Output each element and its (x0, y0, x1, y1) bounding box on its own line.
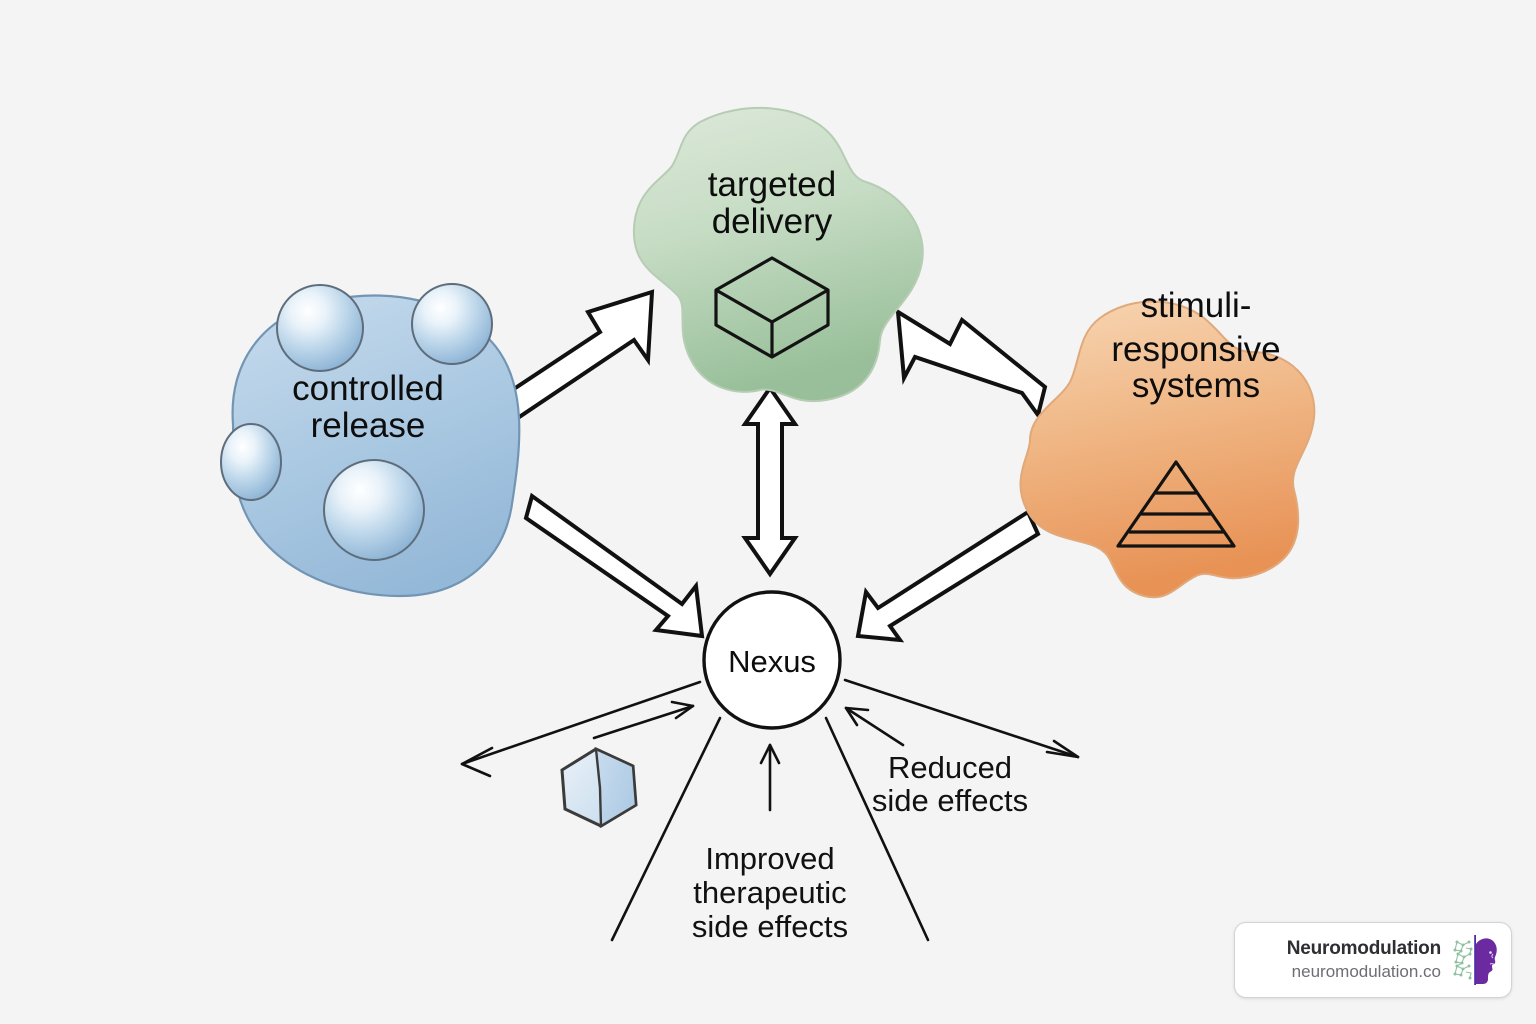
badge-title: Neuromodulation (1287, 937, 1441, 961)
node-label-targeted-delivery-line2: delivery (712, 202, 833, 241)
node-label-stimuli-line1: stimuli- (1141, 286, 1252, 325)
node-label-stimuli-line3: systems (1132, 366, 1260, 405)
outcome-reduced-line1: Reduced (888, 750, 1012, 785)
hub-label: Nexus (728, 644, 816, 679)
node-label-controlled-release-line1: controlled (292, 369, 444, 408)
outcome-improved-therapeutic: Improved therapeutic side effects (692, 841, 848, 944)
outcome-reduced-line2: side effects (872, 783, 1028, 818)
brand-badge[interactable]: Neuromodulation neuromodulation.co (1234, 922, 1512, 998)
outcome-improved-line2: therapeutic (693, 875, 846, 910)
outcome-reduced-side-effects: Reduced side effects (872, 750, 1028, 818)
diagram-canvas: controlled release targeted delivery sti… (0, 0, 1536, 1024)
connector-outcome-improved-arrow (761, 745, 779, 810)
node-controlled-release[interactable]: controlled release (221, 284, 519, 596)
node-label-controlled-release-line2: release (311, 406, 426, 445)
outcome-improved-line3: side effects (692, 909, 848, 944)
node-label-targeted-delivery-line1: targeted (708, 165, 836, 204)
connector-controlled-to-nexus (526, 496, 702, 636)
node-targeted-delivery[interactable]: targeted delivery (634, 108, 923, 401)
hexagon-crystal-icon (562, 749, 636, 826)
connector-stimuli-to-nexus (858, 512, 1038, 640)
badge-text-block: Neuromodulation neuromodulation.co (1287, 937, 1441, 983)
diagram-svg: controlled release targeted delivery sti… (0, 0, 1536, 1024)
hub-nexus[interactable]: Nexus (704, 592, 840, 728)
node-label-stimuli-line2: responsive (1111, 330, 1280, 369)
node-stimuli-responsive-systems[interactable]: stimuli- responsive systems (1020, 286, 1314, 597)
connector-outcome-left-arrow (594, 702, 693, 738)
connector-targeted-to-nexus (745, 388, 795, 574)
head-profile-logo (1449, 932, 1501, 988)
badge-url: neuromodulation.co (1292, 961, 1441, 983)
connector-outcome-reduced-arrow (846, 708, 903, 745)
outcome-improved-line1: Improved (705, 841, 834, 876)
connector-targeted-to-stimuli (898, 312, 1045, 415)
